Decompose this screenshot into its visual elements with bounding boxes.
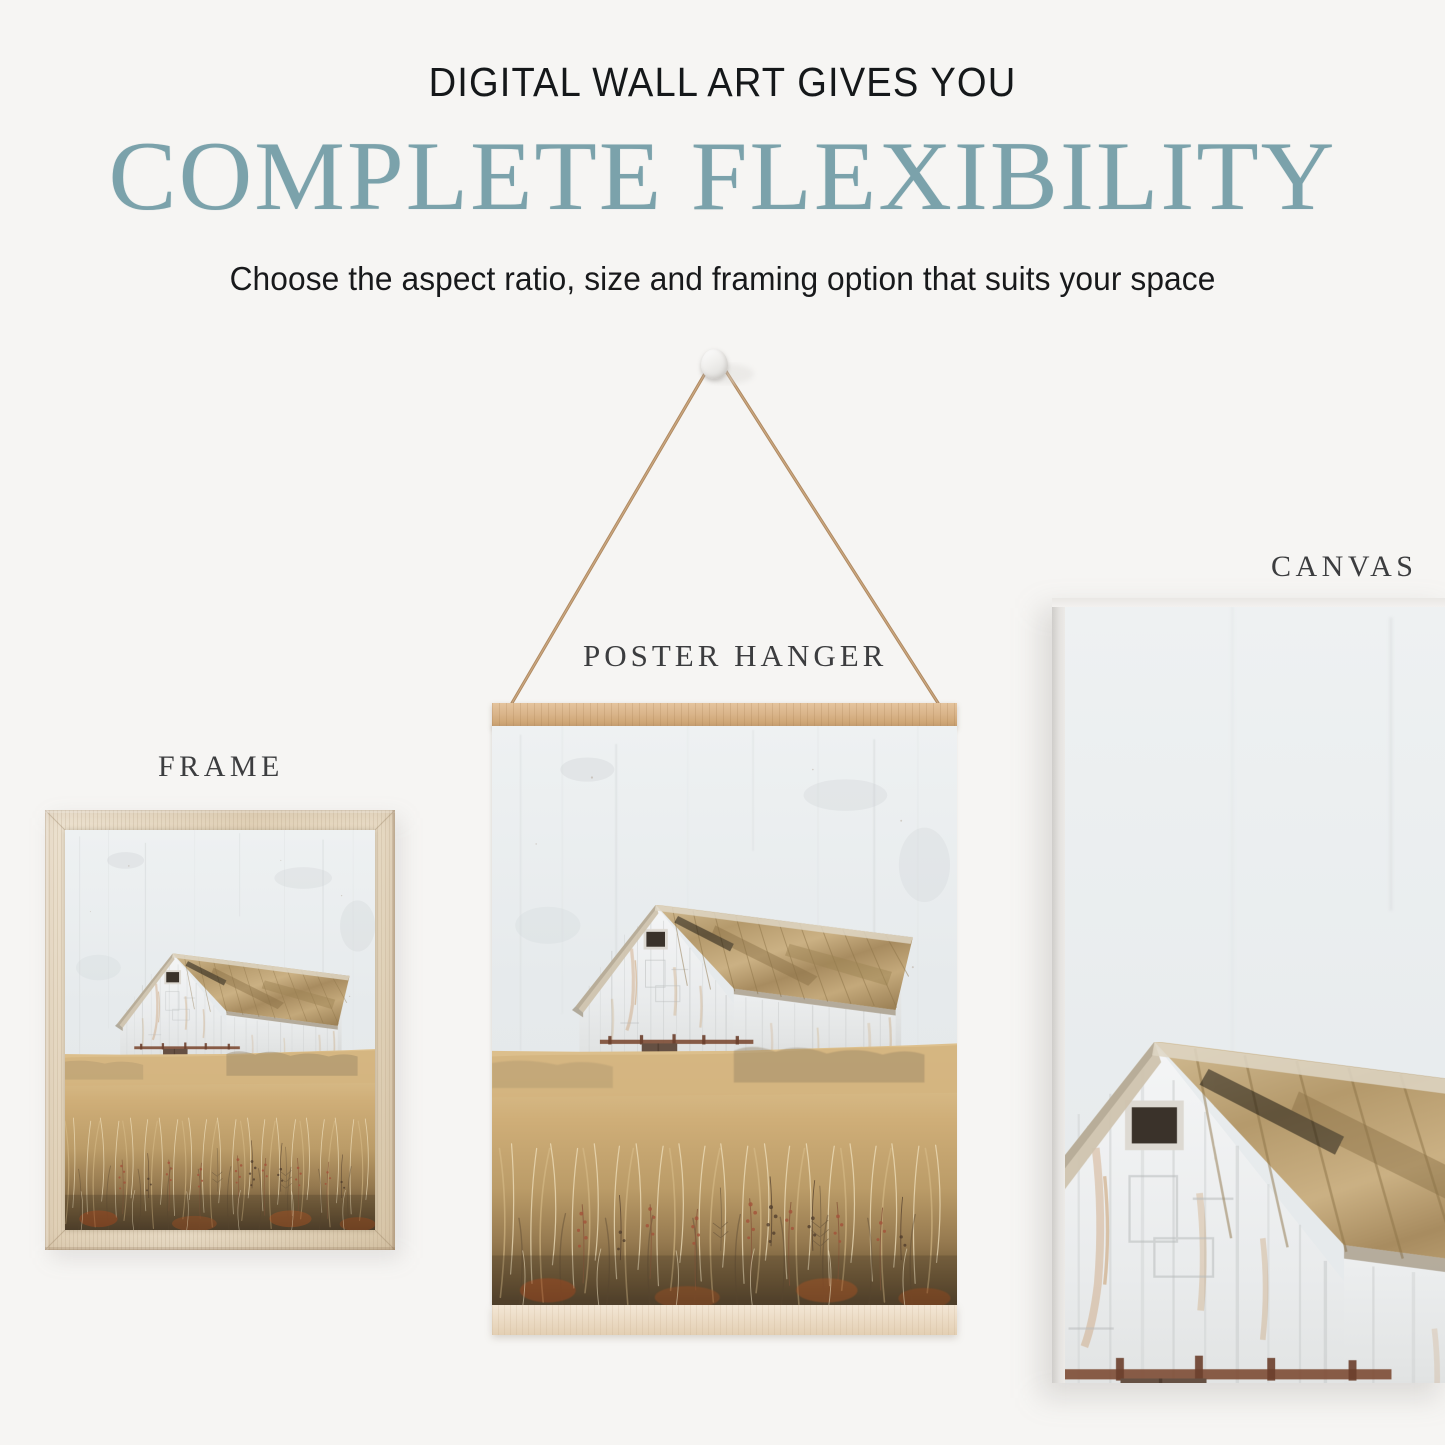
canvas-print-mockup[interactable]: [1052, 598, 1445, 1383]
hanger-artwork: [492, 726, 957, 1306]
frame-label: FRAME: [158, 750, 284, 784]
header-kicker: DIGITAL WALL ART GIVES YOU: [51, 62, 1395, 103]
poster-mockup-stage: DIGITAL WALL ART GIVES YOU COMPLETE FLEX…: [0, 0, 1445, 1445]
framed-print-mockup[interactable]: [45, 810, 395, 1250]
poster-hanger-mockup[interactable]: [492, 340, 957, 1340]
barn-painting-framed: [65, 830, 375, 1230]
canvas-label: CANVAS: [1271, 550, 1418, 584]
canvas-top-edge: [1052, 598, 1445, 607]
barn-painting-canvas: [1065, 606, 1445, 1383]
canvas-gallery-wrap-edge: [1052, 598, 1065, 1383]
hanger-cord: [492, 340, 957, 715]
page-title: COMPLETE FLEXIBILITY: [0, 127, 1445, 226]
barn-painting-hanger: [492, 726, 957, 1306]
wall-hook-icon: [701, 349, 728, 379]
header: DIGITAL WALL ART GIVES YOU COMPLETE FLEX…: [0, 0, 1445, 298]
canvas-artwork: [1065, 606, 1445, 1383]
header-subtitle: Choose the aspect ratio, size and framin…: [29, 260, 1416, 298]
hanger-top-bar: [492, 703, 957, 728]
hanger-bottom-bar: [492, 1305, 957, 1335]
frame-artwork: [65, 830, 375, 1230]
